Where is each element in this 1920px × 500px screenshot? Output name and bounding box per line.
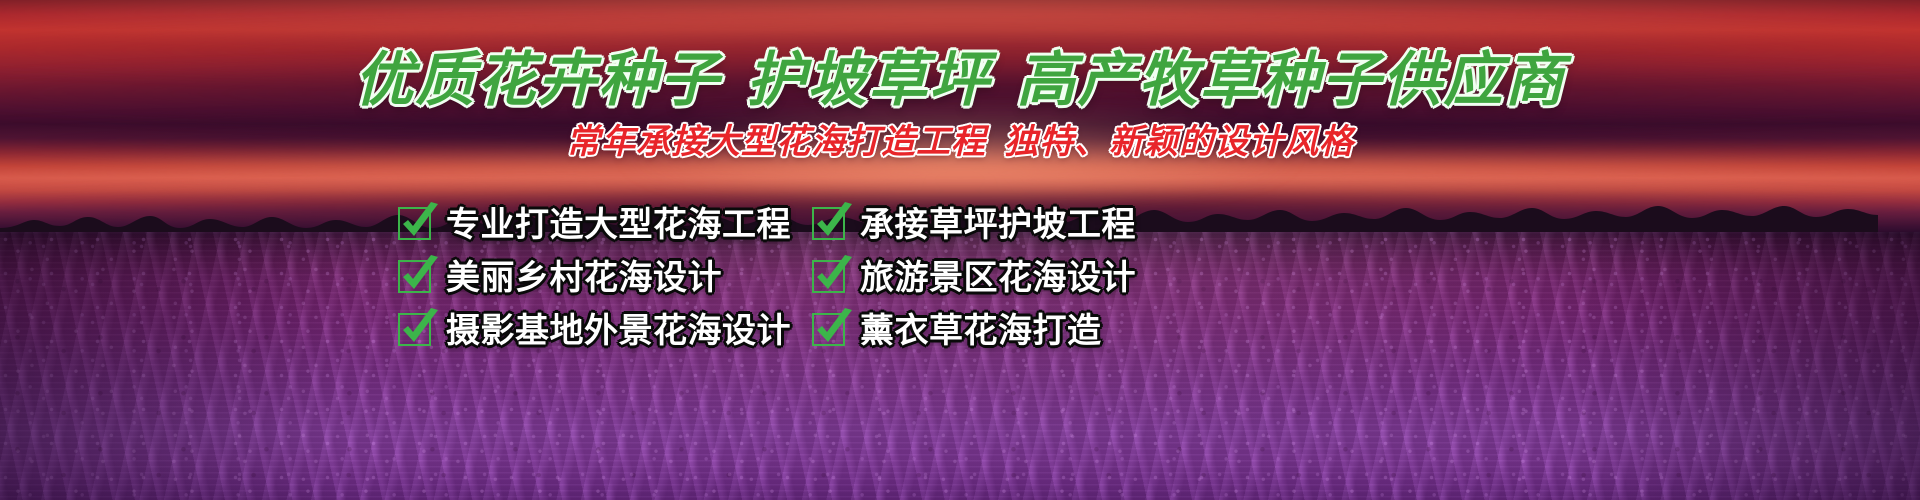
subtitle-part-1: 常年承接大型花海打造工程 — [566, 124, 986, 161]
promo-banner: 优质花卉种子护坡草坪高产牧草种子供应商 常年承接大型花海打造工程独特、新颖的设计… — [0, 0, 1920, 500]
check-icon — [398, 313, 435, 348]
check-icon — [398, 207, 435, 242]
feature-label: 美丽乡村花海设计 — [446, 259, 722, 297]
feature-list: 专业打造大型花海工程 承接草坪护坡工程 美丽乡村花海设计 旅游景区花海设计 — [398, 198, 1158, 357]
feature-label: 旅游景区花海设计 — [860, 259, 1136, 297]
headline: 优质花卉种子护坡草坪高产牧草种子供应商 — [0, 47, 1920, 113]
feature-item-3: 美丽乡村花海设计 — [398, 259, 812, 297]
feature-item-2: 承接草坪护坡工程 — [812, 206, 1158, 244]
headline-part-3: 高产牧草种子供应商 — [1017, 47, 1566, 113]
feature-label: 摄影基地外景花海设计 — [446, 312, 791, 350]
feature-item-5: 摄影基地外景花海设计 — [398, 312, 812, 350]
headline-part-2: 护坡草坪 — [746, 47, 990, 113]
check-icon — [812, 313, 849, 348]
check-icon — [398, 260, 435, 295]
feature-label: 专业打造大型花海工程 — [446, 206, 791, 244]
check-icon — [812, 207, 849, 242]
feature-label: 薰衣草花海打造 — [860, 312, 1102, 350]
subtitle-part-2: 独特、新颖的设计风格 — [1004, 124, 1354, 161]
feature-item-4: 旅游景区花海设计 — [812, 259, 1158, 297]
feature-item-6: 薰衣草花海打造 — [812, 312, 1158, 350]
feature-item-1: 专业打造大型花海工程 — [398, 206, 812, 244]
feature-label: 承接草坪护坡工程 — [860, 206, 1136, 244]
headline-part-1: 优质花卉种子 — [354, 47, 720, 113]
subtitle: 常年承接大型花海打造工程独特、新颖的设计风格 — [0, 123, 1920, 163]
check-icon — [812, 260, 849, 295]
